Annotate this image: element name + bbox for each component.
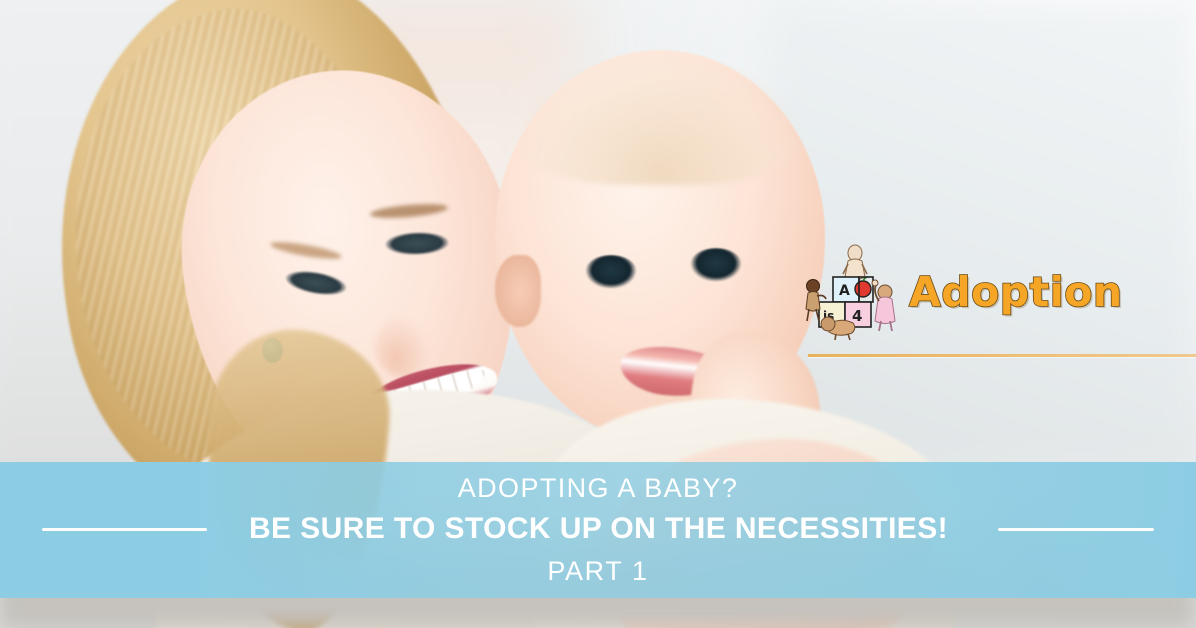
cta-headline-row: BE SURE TO STOCK UP ON THE NECESSITIES!	[0, 514, 1196, 544]
blog-header-banner: A is 4	[0, 0, 1196, 628]
cta-banner: ADOPTING A BABY? BE SURE TO STOCK UP ON …	[0, 462, 1196, 598]
photo-backdrop-right	[766, 0, 1196, 470]
logo-underline-rule	[808, 354, 1196, 357]
alphabet-blocks-icon: A is 4	[803, 244, 907, 340]
baby-eye-right	[690, 248, 742, 282]
site-logo[interactable]: A is 4	[803, 243, 1063, 341]
mother-nose	[375, 315, 429, 377]
cta-subtitle-text: PART 1	[547, 558, 648, 585]
svg-text:4: 4	[852, 307, 862, 325]
cta-headline-text: BE SURE TO STOCK UP ON THE NECESSITIES!	[249, 514, 948, 544]
cta-eyebrow-text: ADOPTING A BABY?	[458, 475, 739, 502]
cta-rule-left	[42, 528, 207, 531]
baby-eye-left	[585, 255, 637, 289]
logo-wordmark: Adoption	[909, 272, 1123, 313]
svg-text:A: A	[839, 283, 850, 299]
cta-rule-right	[998, 528, 1154, 531]
baby-ear	[495, 255, 541, 327]
